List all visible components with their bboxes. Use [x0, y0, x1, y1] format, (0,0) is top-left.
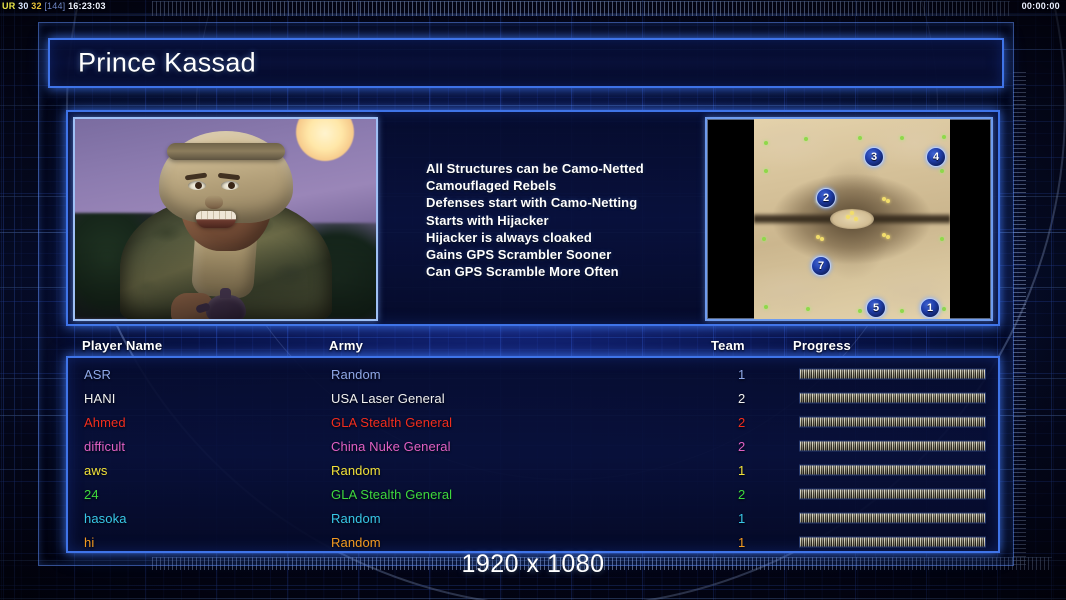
- minimap-start-position: 4: [926, 147, 946, 167]
- bonus-item: Gains GPS Scrambler Sooner: [426, 246, 726, 263]
- player-name: hasoka: [84, 511, 127, 526]
- minimap-tech-marker: [900, 309, 904, 313]
- minimap-tech-marker: [764, 169, 768, 173]
- minimap-tech-marker: [806, 307, 810, 311]
- player-army: Random: [331, 535, 381, 550]
- bonus-item: All Structures can be Camo-Netted: [426, 160, 726, 177]
- player-army: Random: [331, 463, 381, 478]
- player-team: 1: [738, 535, 745, 550]
- status-number-1: 30: [18, 1, 28, 11]
- player-name: difficult: [84, 439, 125, 454]
- column-header-progress: Progress: [793, 338, 851, 353]
- general-info-panel: All Structures can be Camo-Netted Camouf…: [66, 110, 1000, 326]
- minimap-start-position: 2: [816, 188, 836, 208]
- portrait-shading: [75, 119, 376, 319]
- bonus-item: Can GPS Scramble More Often: [426, 263, 726, 280]
- progress-sheen: [800, 418, 985, 427]
- minimap-tech-marker: [900, 136, 904, 140]
- minimap-supply-marker: [886, 199, 890, 203]
- minimap-terrain-area: 34267851: [754, 119, 950, 319]
- bonus-item: Defenses start with Camo-Netting: [426, 194, 726, 211]
- general-bonus-list: All Structures can be Camo-Netted Camouf…: [426, 160, 726, 280]
- player-list: ASRRandom1HANIUSA Laser General2AhmedGLA…: [72, 362, 994, 547]
- table-row: HANIUSA Laser General2: [72, 386, 994, 410]
- player-table-panel: ASRRandom1HANIUSA Laser General2AhmedGLA…: [66, 356, 1000, 553]
- minimap-start-position: 1: [920, 298, 940, 318]
- player-team: 1: [738, 367, 745, 382]
- minimap-tech-marker: [804, 137, 808, 141]
- table-row: AhmedGLA Stealth General2: [72, 410, 994, 434]
- player-name: aws: [84, 463, 107, 478]
- minimap-tech-marker: [762, 237, 766, 241]
- player-name: HANI: [84, 391, 115, 406]
- table-row: ASRRandom1: [72, 362, 994, 386]
- player-army: GLA Stealth General: [331, 487, 452, 502]
- progress-sheen: [800, 514, 985, 523]
- loading-screen: UR 30 32 [144] 16:23:03 00:00:00 Prince …: [0, 0, 1066, 600]
- minimap-tech-marker: [942, 135, 946, 139]
- minimap-supply-marker: [886, 235, 890, 239]
- table-row: 24GLA Stealth General2: [72, 482, 994, 506]
- player-team: 2: [738, 487, 745, 502]
- elapsed-timer: 00:00:00: [1022, 1, 1060, 11]
- player-progress-bar: [799, 537, 986, 548]
- player-army: USA Laser General: [331, 391, 445, 406]
- player-team: 1: [738, 511, 745, 526]
- player-progress-bar: [799, 513, 986, 524]
- status-bracket: [144]: [44, 1, 65, 11]
- player-army: Random: [331, 367, 381, 382]
- player-team: 2: [738, 439, 745, 454]
- table-row: difficultChina Nuke General2: [72, 434, 994, 458]
- player-table-header: Player Name Army Team Progress: [66, 338, 1000, 358]
- player-army: Random: [331, 511, 381, 526]
- resolution-label: 1920 x 1080: [0, 550, 1066, 579]
- bonus-item: Hijacker is always cloaked: [426, 229, 726, 246]
- minimap-supply-marker: [820, 237, 824, 241]
- player-name: hi: [84, 535, 94, 550]
- progress-sheen: [800, 490, 985, 499]
- player-team: 2: [738, 415, 745, 430]
- table-row: hasokaRandom1: [72, 506, 994, 530]
- page-title: Prince Kassad: [78, 48, 256, 79]
- minimap-tech-marker: [942, 307, 946, 311]
- progress-sheen: [800, 538, 985, 547]
- minimap-start-position: 7: [811, 256, 831, 276]
- bonus-item: Starts with Hijacker: [426, 212, 726, 229]
- progress-sheen: [800, 442, 985, 451]
- minimap-supply-marker: [854, 217, 858, 221]
- player-progress-bar: [799, 489, 986, 500]
- progress-sheen: [800, 466, 985, 475]
- title-panel: Prince Kassad: [48, 38, 1004, 88]
- status-bar-left: UR 30 32 [144] 16:23:03: [2, 1, 106, 11]
- minimap-tech-marker: [940, 169, 944, 173]
- player-name: 24: [84, 487, 99, 502]
- minimap-tech-marker: [858, 309, 862, 313]
- column-header-team: Team: [711, 338, 745, 353]
- player-army: GLA Stealth General: [331, 415, 452, 430]
- player-name: Ahmed: [84, 415, 126, 430]
- status-number-2: 32: [31, 1, 41, 11]
- table-row: awsRandom1: [72, 458, 994, 482]
- status-label: UR: [2, 1, 15, 11]
- player-progress-bar: [799, 465, 986, 476]
- column-header-army: Army: [329, 338, 363, 353]
- minimap-supply-marker: [850, 211, 854, 215]
- progress-sheen: [800, 370, 985, 379]
- minimap: 34267851: [705, 117, 993, 321]
- status-clock: 16:23:03: [68, 1, 106, 11]
- minimap-tech-marker: [858, 136, 862, 140]
- player-progress-bar: [799, 393, 986, 404]
- player-team: 1: [738, 463, 745, 478]
- player-progress-bar: [799, 417, 986, 428]
- minimap-tech-marker: [764, 141, 768, 145]
- player-team: 2: [738, 391, 745, 406]
- player-army: China Nuke General: [331, 439, 451, 454]
- status-bar: UR 30 32 [144] 16:23:03 00:00:00: [0, 0, 1066, 15]
- player-name: ASR: [84, 367, 111, 382]
- minimap-tech-marker: [940, 237, 944, 241]
- column-header-player-name: Player Name: [82, 338, 162, 353]
- minimap-supply-marker: [846, 215, 850, 219]
- bonus-item: Camouflaged Rebels: [426, 177, 726, 194]
- progress-sheen: [800, 394, 985, 403]
- minimap-start-position: 5: [866, 298, 886, 318]
- general-portrait: [73, 117, 378, 321]
- player-progress-bar: [799, 441, 986, 452]
- player-progress-bar: [799, 369, 986, 380]
- minimap-start-position: 3: [864, 147, 884, 167]
- minimap-tech-marker: [764, 305, 768, 309]
